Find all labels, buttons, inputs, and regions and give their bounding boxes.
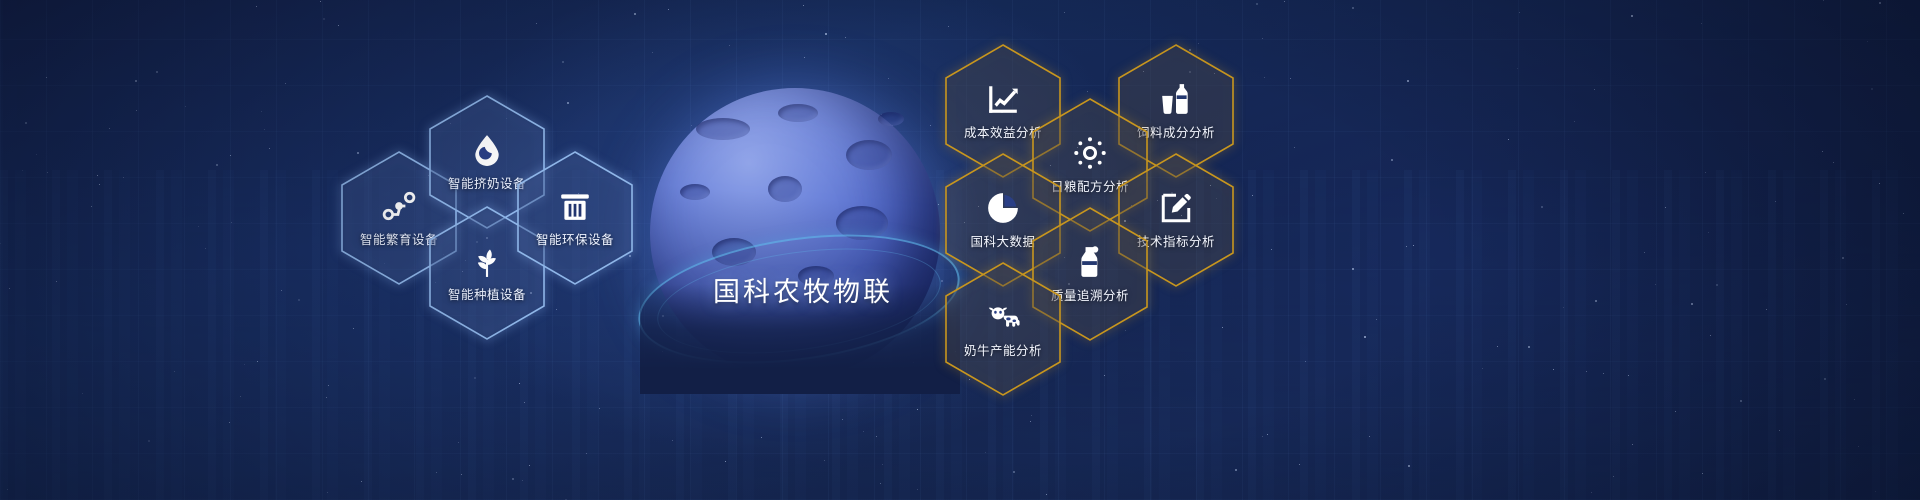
sun-brightness-icon	[1073, 136, 1107, 170]
hex-label: 质量追溯分析	[1051, 285, 1129, 304]
hex-label: 智能种植设备	[448, 284, 526, 303]
line-chart-icon	[986, 82, 1020, 116]
hex-label: 智能繁育设备	[360, 229, 438, 248]
trash-bin-icon	[558, 189, 592, 223]
edit-pencil-icon	[1159, 191, 1193, 225]
milk-bottle-glass-icon	[1159, 82, 1193, 116]
water-drop-icon	[470, 133, 504, 167]
milk-bottle-icon	[1073, 245, 1107, 279]
nodes-network-icon	[382, 189, 416, 223]
pie-chart-icon	[986, 191, 1020, 225]
hex-cell-cow[interactable]: 奶牛产能分析	[944, 261, 1062, 397]
page-title: 国科农牧物联	[658, 270, 948, 309]
hex-cell-trash-bin[interactable]: 智能环保设备	[516, 150, 634, 286]
hex-label: 智能挤奶设备	[448, 173, 526, 192]
plant-leaf-icon	[470, 244, 504, 278]
hex-label: 国科大数据	[970, 231, 1035, 250]
central-planet: 国科农牧物联	[640, 88, 960, 368]
iot-platform-banner: 国科农牧物联 智能繁育设备智能挤奶设备智能种植设备智能环保设备 成本效益分析饲料…	[0, 0, 1920, 500]
hex-label: 奶牛产能分析	[964, 340, 1042, 359]
cow-icon	[986, 300, 1020, 334]
hex-label: 智能环保设备	[536, 229, 614, 248]
